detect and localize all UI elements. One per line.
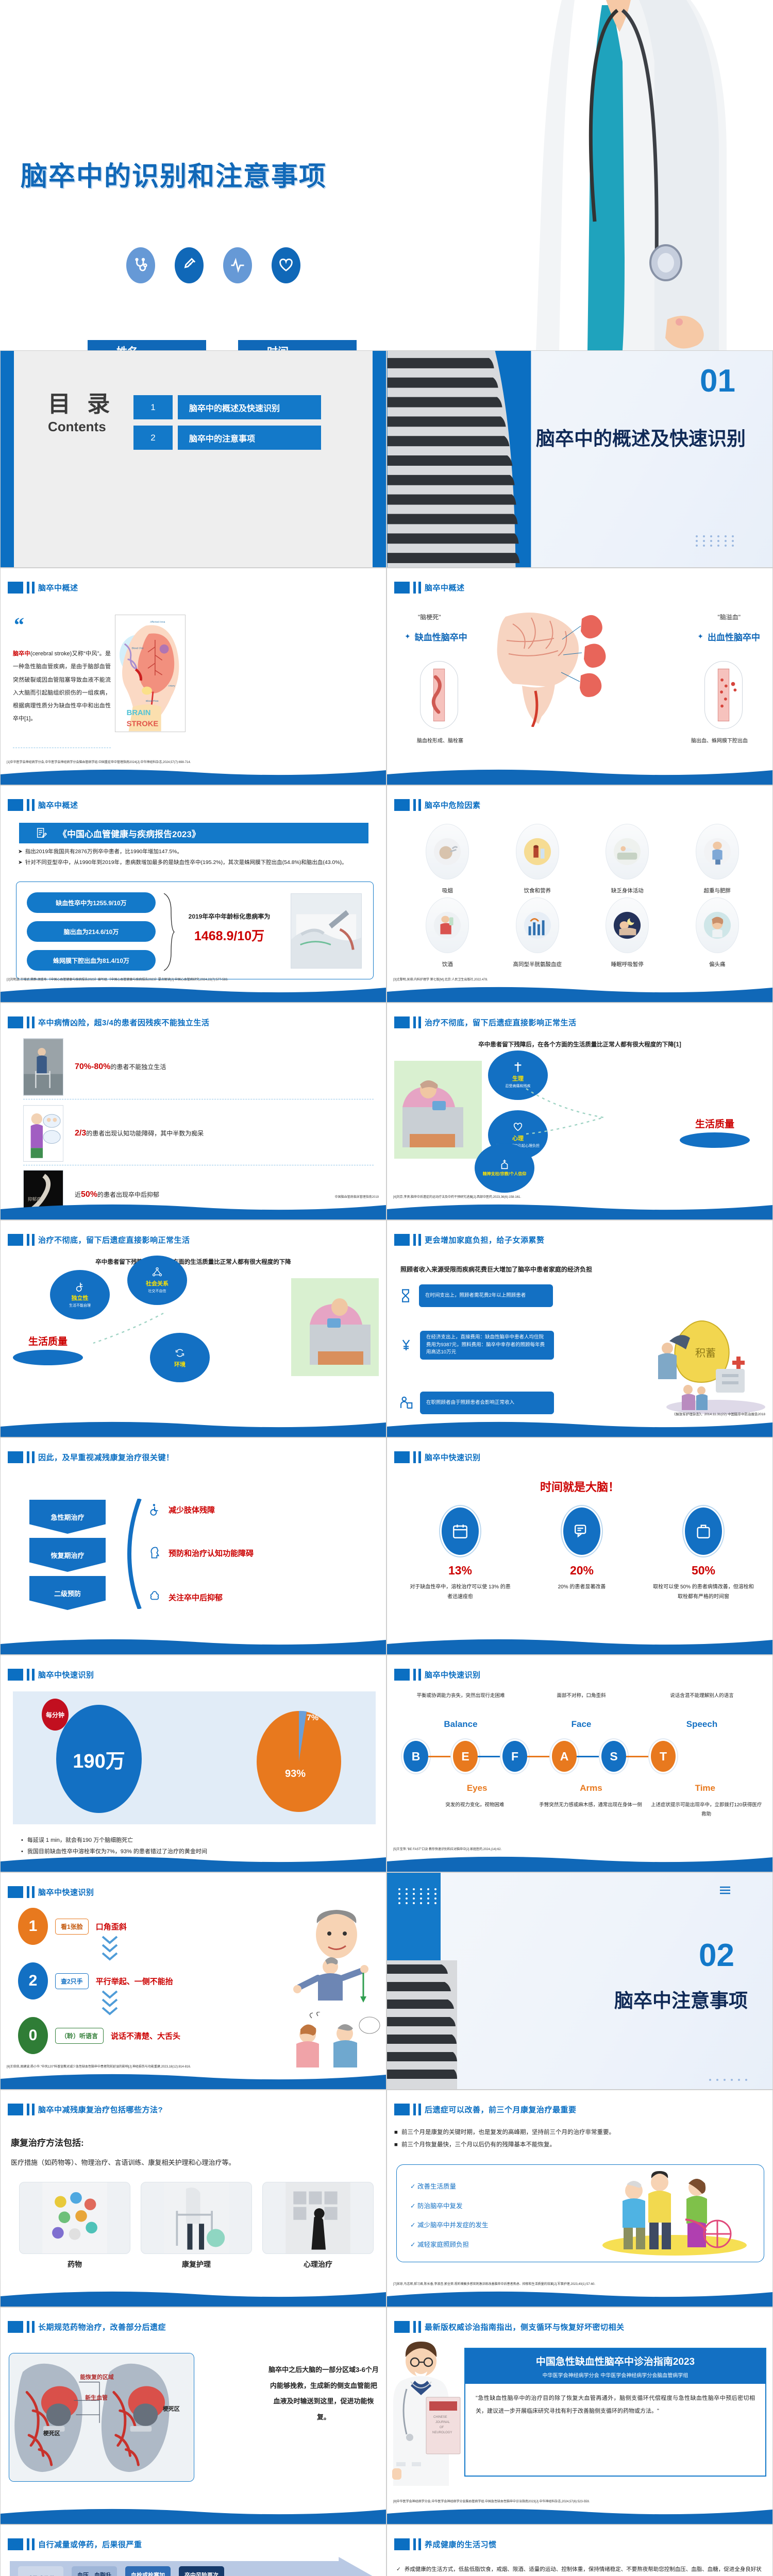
check-icon: ✓ bbox=[396, 2563, 401, 2576]
chain-step: 血栓或栓塞加重 bbox=[125, 2566, 171, 2576]
slide-header: 最新版权威诊治指南指出，侧支循环与恢复好坏密切相关 bbox=[394, 2321, 625, 2333]
step-tag: 查2只手 bbox=[55, 1973, 89, 1989]
longterm-text: 脑卒中之后大脑的一部分区域3-6个月内能够挽救，生成新的侧支血管能把血液及时输送… bbox=[267, 2362, 380, 2425]
header-title: 卒中病情凶险，超3/4的患者因残疾不能独立生活 bbox=[38, 1017, 209, 1028]
contents-en: Contents bbox=[48, 419, 115, 435]
step-tag: （聆）听语言 bbox=[55, 2028, 104, 2044]
burden-item: 在时间支出上，照顾者需花费2年以上照顾患者 bbox=[398, 1284, 553, 1307]
section-title: 脑卒中注意事项 bbox=[614, 1985, 748, 2013]
header-title: 脑卒中概述 bbox=[38, 800, 78, 810]
footer-wave bbox=[1, 985, 386, 1002]
time-stat: 20% 20% 的患者显著改善 bbox=[523, 1506, 641, 1602]
stat-text: 20% 的患者显著改善 bbox=[523, 1583, 641, 1592]
befast-bottom-desc: 上述症状提示可能出现卒中，立即拨打120获得医疗救助 bbox=[648, 1801, 764, 1819]
summary-label: 2019年卒中年龄标化患病率为 bbox=[180, 912, 278, 921]
dot-bullet: • bbox=[21, 1835, 23, 1846]
recycle-icon bbox=[174, 1347, 186, 1359]
risk-label: 吸烟 bbox=[442, 887, 453, 894]
speech-cartoon bbox=[281, 2012, 382, 2070]
right-rail bbox=[373, 351, 386, 567]
svg-text:能恢复的区域: 能恢复的区域 bbox=[80, 2374, 114, 2381]
outcome-item: 关注卒中后抑郁 bbox=[148, 1589, 223, 1605]
left-rail bbox=[1, 351, 14, 567]
header-title: 自行减量或停药，后果很严重 bbox=[38, 2539, 142, 2550]
check-item: ✓ 减轻家庭照顾负担 bbox=[410, 2235, 488, 2255]
bullet-item: •每延误 1 min，就会有190 万个脑细胞死亡 bbox=[21, 1835, 375, 1846]
node-sub: 社交不自信 bbox=[148, 1289, 166, 1294]
check-text: 减少脑卒中并发症的发生 bbox=[417, 2222, 489, 2229]
risk-factor-item: 睡眠呼吸暂停 bbox=[582, 897, 673, 968]
big-number: 190万 bbox=[56, 1705, 142, 1813]
quality-center: 生活质量 bbox=[13, 1334, 83, 1365]
header-title: 脑卒中概述 bbox=[38, 582, 78, 593]
risk-illustration bbox=[606, 897, 649, 953]
footer-wave bbox=[387, 985, 772, 1002]
slide-stop-medication: 自行减量或停药，后果很严重 减量或停药 血压、血脂升高 血栓或栓塞加重 卒中风险… bbox=[0, 2524, 386, 2576]
contents-item[interactable]: 2 脑卒中的注意事项 bbox=[133, 426, 321, 450]
dotted-connectors bbox=[521, 1084, 609, 1141]
footer-wave bbox=[387, 1637, 772, 1654]
hourglass-icon bbox=[398, 1287, 413, 1304]
header-title: 治疗不彻底，留下后遗症直接影响正常生活 bbox=[38, 1234, 190, 1245]
chevrons-down-icon bbox=[97, 1934, 122, 1961]
pulse-icon bbox=[223, 247, 252, 283]
left-quote: "脑梗死" bbox=[418, 613, 441, 621]
stat-chip: 蛛网膜下腔出血为81.4/10万 bbox=[27, 950, 156, 971]
slide-header: 脑卒中概述 bbox=[8, 799, 78, 811]
slide-header: 脑卒中快速识别 bbox=[394, 1451, 481, 1463]
tower-photo bbox=[387, 351, 531, 567]
step-text: 说话不清楚、大舌头 bbox=[111, 2030, 180, 2041]
message-icon bbox=[573, 1522, 591, 1540]
node-title: 生理 bbox=[512, 1074, 524, 1082]
footer-wave bbox=[1, 1854, 386, 1872]
method-caption: 康复护理 bbox=[141, 2259, 252, 2269]
reference-note: [3]尤黎明,吴瑛.内科护理学 第七版[M].北京:人民卫生出版社,2022.4… bbox=[393, 977, 488, 981]
bullet-item: ➤ 针对不同亚型卒中，从1990年到2019年，患病数增加最多的是缺血性卒中(1… bbox=[18, 858, 373, 867]
bullet-text: 前三个月恢复最快，三个月以后仍有的残障基本不能恢复。 bbox=[401, 2139, 556, 2151]
svg-text:Blood Clot: Blood Clot bbox=[132, 647, 144, 650]
chevrons-down-icon bbox=[97, 1988, 122, 2016]
risk-factor-item: 超重与肥胖 bbox=[673, 824, 763, 894]
pie-chart: 7% 93% bbox=[256, 1705, 342, 1813]
dot-grid bbox=[709, 2079, 750, 2081]
reference-note: [1]中华医学会神经病学分会,中华医学会神经病学分会脑血管病学组.中国重症卒中管… bbox=[7, 759, 191, 764]
burden-text: 在经济支出上，直接费用：缺血性脑卒中患者人均住院费用为9387元，照料费用：脑卒… bbox=[420, 1331, 554, 1360]
contents-list: 1 脑卒中的概述及快速识别 2 脑卒中的注意事项 bbox=[133, 395, 321, 456]
contents-number: 1 bbox=[133, 395, 173, 419]
svg-text:7%: 7% bbox=[307, 1714, 318, 1722]
family-support-illustration bbox=[584, 2170, 760, 2258]
quality-lead: 卒中患者留下残障后，在各个方面的生活质量比正常人都有很大程度的下降[1] bbox=[387, 1040, 772, 1048]
chart-panel: 每分钟 190万 7% 93% bbox=[13, 1691, 376, 1824]
header-title: 长期规范药物治疗，改善部分后遗症 bbox=[38, 2321, 166, 2332]
burden-item: 在职照顾者由于照顾患者会影响正常收入 bbox=[398, 1392, 554, 1414]
method-item: 药物 bbox=[19, 2182, 130, 2269]
footer-wave bbox=[1, 1637, 386, 1654]
chain-step: 减量或停药 bbox=[18, 2566, 63, 2576]
slide-header: 脑卒中减残康复治疗包括哪些方法? bbox=[8, 2104, 163, 2115]
risk-illustration bbox=[606, 824, 649, 879]
slide-habit-diet: 养成健康的生活习惯 ✓养成健康的生活方式，低盐低脂饮食，戒烟、限酒、适量的运动、… bbox=[386, 2524, 773, 2576]
wheelchair-icon bbox=[74, 1281, 86, 1292]
left-caption: 脑血栓形成、脑栓塞 bbox=[407, 736, 474, 744]
report-banner: 《中国心血管健康与疾病报告2023》 bbox=[58, 827, 200, 840]
header-title: 脑卒中快速识别 bbox=[425, 1669, 481, 1680]
stat-value: 20% bbox=[523, 1564, 641, 1578]
slide-first-three-months: 后遗症可以改善，前三个月康复治疗最重要 ■前三个月是康复的关键时期，也是复发的高… bbox=[386, 2090, 773, 2307]
svg-text:JOURNAL: JOURNAL bbox=[435, 2421, 450, 2424]
cover-title: 脑卒中的识别和注意事项 bbox=[21, 155, 327, 193]
calendar-icon bbox=[451, 1522, 469, 1540]
footer-wave bbox=[1, 1419, 386, 1437]
slide-header: 更会增加家庭负担，给子女添累赘 bbox=[394, 1234, 545, 1246]
slide-quality-right: 治疗不彻底，留下后遗症直接影响正常生活 卒中患者留下残障后，在各个方面的生活质量… bbox=[0, 1220, 386, 1437]
reference-note: 《解放军护理杂志》，2014.11.31(22) 中国脑卒中防治报告2018 bbox=[673, 1411, 765, 1416]
slide-befast: 脑卒中快速识别 平衡或协调能力丧失，突然出现行走困难 面部不对称，口角歪斜 说话… bbox=[386, 1655, 773, 1872]
diamond-icon: ✦ bbox=[405, 632, 411, 641]
slide-contents: 目 录 Contents 1 脑卒中的概述及快速识别 2 脑卒中的注意事项 bbox=[0, 350, 386, 568]
chain-step: 卒中风险再次升高 bbox=[179, 2566, 224, 2576]
vessel-frame-right bbox=[704, 661, 743, 729]
slide-rehab-methods: 脑卒中减残康复治疗包括哪些方法? 康复治疗方法包括: 医疗措施（如药物等）、物理… bbox=[0, 2090, 386, 2307]
header-title: 更会增加家庭负担，给子女添累赘 bbox=[425, 1234, 545, 1245]
contents-heading: 目 录 Contents bbox=[48, 393, 115, 435]
brain-collateral-illustration: 能恢复的区域 新生血管 梗死区 梗死区 bbox=[9, 2353, 194, 2481]
outcome-item: 预防和治疗认知功能障碍 bbox=[148, 1545, 254, 1561]
slide-header: 自行减量或停药，后果很严重 bbox=[8, 2538, 142, 2550]
psych-therapy-photo bbox=[262, 2182, 374, 2254]
slide-header: 因此，及早重视减残康复治疗很关键！ bbox=[8, 1451, 174, 1463]
befast-bottom-label: Eyes bbox=[420, 1783, 534, 1793]
stat-value: 13% bbox=[401, 1564, 519, 1578]
rehab-care-photo bbox=[141, 2182, 252, 2254]
slide-header: 卒中病情凶险，超3/4的患者因残疾不能独立生活 bbox=[8, 1016, 209, 1028]
risk-factor-item: 饮酒 bbox=[402, 897, 493, 968]
syringe-icon bbox=[175, 247, 204, 283]
methods-lead: 康复治疗方法包括: bbox=[11, 2136, 84, 2148]
method-item: 康复护理 bbox=[141, 2182, 252, 2269]
diamond-icon: ✦ bbox=[697, 632, 703, 641]
stat-chip: 脑出血为214.6/10万 bbox=[27, 921, 156, 942]
quality-lead: 卒中患者留下残障后，在各个方面的生活质量比正常人都有很大程度的下降 bbox=[1, 1258, 386, 1266]
reference-note: [5]王宝萍."BE FAST"口诀 教你快速识别和应对脑卒中[J].家庭医药,… bbox=[393, 1846, 501, 1851]
brace-icon bbox=[162, 893, 175, 971]
center-label: 生活质量 bbox=[13, 1334, 83, 1348]
risk-factor-item: 吸烟 bbox=[402, 824, 493, 894]
risk-illustration bbox=[696, 824, 739, 879]
footer-wave bbox=[1, 2072, 386, 2089]
befast-bottom-desc: 手臂突然无力感或麻木感，通常出现在身体一侧 bbox=[533, 1801, 649, 1819]
slide-header: 脑卒中快速识别 bbox=[394, 1669, 481, 1681]
svg-text:NEUROLOGY: NEUROLOGY bbox=[432, 2431, 452, 2434]
worker-icon bbox=[398, 1395, 414, 1411]
right-type: ✦ 出血性脑卒中 bbox=[697, 630, 760, 643]
contents-number: 2 bbox=[133, 426, 173, 450]
befast-top-desc: 说话含混不能理解别人的语言 bbox=[642, 1691, 762, 1700]
contents-label: 脑卒中的注意事项 bbox=[178, 426, 321, 450]
step-row: 2 查2只手 平行举起、一侧不能抬 bbox=[18, 1962, 173, 1999]
doctor-writing-photo bbox=[291, 893, 362, 969]
right-quote: "脑溢血" bbox=[717, 613, 741, 621]
severity-text: 的患者不能独立生活 bbox=[110, 1063, 166, 1071]
arrow-icon: ➤ bbox=[18, 858, 23, 867]
node-title: 独立性 bbox=[72, 1294, 89, 1302]
slide-severity: 卒中病情凶险，超3/4的患者因残疾不能独立生活 70%-80%的患者不能独立生活… bbox=[0, 1003, 386, 1220]
slide-overview-2: 脑卒中概述 "脑梗死" ✦ 缺血性脑卒中 "脑溢血" ✦ 出血性脑卒中 bbox=[386, 568, 773, 785]
slide-rehab-key: 因此，及早重视减残康复治疗很关键！ 急性期治疗 恢复期治疗 二级预防 减少肢体残… bbox=[0, 1437, 386, 1655]
check-text: 改善生活质量 bbox=[417, 2183, 456, 2190]
severity-prefix: 近 bbox=[75, 1191, 81, 1198]
right-caption: 脑出血、蛛网膜下腔出血 bbox=[681, 736, 758, 744]
stat-value: 50% bbox=[645, 1564, 762, 1578]
svg-text:梗死区: 梗死区 bbox=[43, 2430, 60, 2437]
time-title: 时间就是大脑！ bbox=[387, 1478, 772, 1495]
reference-note: [4]刘京,李贤.脑卒中后遗症的运动疗法及中药干预研究进展[J].西部中医药,2… bbox=[393, 1194, 521, 1199]
befast-top-label: Balance bbox=[400, 1719, 521, 1730]
bullet-text: 每延误 1 min，就会有190 万个脑细胞死亡 bbox=[27, 1835, 133, 1846]
risk-illustration bbox=[426, 897, 469, 953]
step-number: 0 bbox=[18, 2017, 48, 2054]
befast-letter: F bbox=[502, 1741, 527, 1772]
head-icon bbox=[148, 1545, 161, 1561]
slide-quality-left: 治疗不彻底，留下后遗症直接影响正常生活 卒中患者留下残障后，在各个方面的生活质量… bbox=[386, 1003, 773, 1220]
header-title: 脑卒中快速识别 bbox=[425, 1452, 481, 1463]
risk-label: 超重与肥胖 bbox=[704, 887, 731, 894]
risk-label: 高同型半胱氨酸血症 bbox=[513, 960, 562, 968]
befast-letter: B bbox=[404, 1741, 428, 1772]
vessel-frame-left bbox=[420, 661, 458, 729]
bullet-text: 前三个月是康复的关键时期，也是复发的高峰期，坚持前三个月的治疗非常重要。 bbox=[401, 2126, 615, 2139]
slide-stroke-120: 脑卒中快速识别 1 看1张脸 口角歪斜 2 查2只手 平行举起、一侧不能抬 0 … bbox=[0, 1872, 386, 2090]
bullet-item: ■前三个月恢复最快，三个月以后仍有的残障基本不能恢复。 bbox=[394, 2139, 765, 2151]
slide-header: 后遗症可以改善，前三个月康复治疗最重要 bbox=[394, 2104, 577, 2115]
header-title: 脑卒中危险因素 bbox=[425, 800, 481, 810]
quality-node: 精神支柱/宗教/个人信仰 bbox=[475, 1143, 534, 1193]
reference-note: [2]刘明波,王增武,樊静,胡盛寿.《中国心血管健康与疾病报告2023》编写组.… bbox=[7, 977, 228, 981]
burden-text: 在职照顾者由于照顾患者会影响正常收入 bbox=[420, 1392, 554, 1414]
overview-lead: 脑卒中 bbox=[13, 651, 30, 657]
section-title: 脑卒中的概述及快速识别 bbox=[536, 423, 746, 451]
outcome-text: 关注卒中后抑郁 bbox=[169, 1592, 223, 1603]
time-stat: 50% 取栓可以使 50% 的患者病情改善，但溶栓和取栓都有严格的时间窗 bbox=[645, 1506, 762, 1602]
overview-paragraph: (cerebral stroke)又称“中风”。是一种急性脑血管疾病，是由于脑部… bbox=[13, 651, 111, 722]
right-title: 出血性脑卒中 bbox=[708, 630, 760, 643]
left-title: 缺血性脑卒中 bbox=[415, 630, 467, 643]
contents-item[interactable]: 1 脑卒中的概述及快速识别 bbox=[133, 395, 321, 419]
befast-letter: S bbox=[601, 1741, 626, 1772]
svg-text:BRAIN: BRAIN bbox=[127, 709, 151, 717]
slide-section-02: 02 脑卒中注意事项 bbox=[386, 1872, 773, 2090]
severity-stat: 70%-80% bbox=[75, 1062, 110, 1071]
footer-wave bbox=[387, 767, 772, 785]
wheelchair-icon bbox=[148, 1502, 161, 1517]
severity-text: 的患者出现卒中后抑郁 bbox=[97, 1191, 159, 1198]
pills-photo bbox=[19, 2182, 130, 2254]
header-title: 脑卒中快速识别 bbox=[38, 1669, 94, 1680]
header-title: 后遗症可以改善，前三个月康复治疗最重要 bbox=[425, 2104, 577, 2115]
tower-photo bbox=[387, 1960, 457, 2089]
outcome-text: 减少肢体残障 bbox=[169, 1504, 215, 1515]
svg-text:梗死区: 梗死区 bbox=[163, 2405, 180, 2412]
header-title: 脑卒中概述 bbox=[425, 582, 465, 593]
slide-long-term-medication: 长期规范药物治疗，改善部分后遗症 bbox=[0, 2307, 386, 2524]
church-icon bbox=[499, 1159, 510, 1170]
stage-label: 恢复期治疗 bbox=[51, 1550, 84, 1560]
slide-header: 脑卒中概述 bbox=[394, 582, 465, 594]
slide-time-is-brain: 脑卒中快速识别 时间就是大脑！ 13% 对于缺血性卒中，溶栓治疗可以使 13% … bbox=[386, 1437, 773, 1655]
befast-top-desc: 平衡或协调能力丧失，突然出现行走困难 bbox=[400, 1691, 521, 1700]
document-icon bbox=[36, 826, 47, 840]
brain-vessel-illustration bbox=[475, 603, 629, 727]
left-type: ✦ 缺血性脑卒中 bbox=[405, 630, 467, 643]
dotted-connectors bbox=[91, 1310, 169, 1357]
svg-text:抑郁症: 抑郁症 bbox=[28, 1196, 41, 1202]
footer-wave bbox=[1, 2289, 386, 2307]
slide-deck: 脑卒中的识别和注意事项 姓名 时间 目 录 Co bbox=[0, 0, 773, 2576]
risk-label: 饮酒 bbox=[442, 960, 453, 968]
burden-lead: 照顾者收入来源受限而疾病花费巨大增加了脑卒中患者家庭的经济负担 bbox=[400, 1265, 592, 1274]
risk-illustration bbox=[426, 824, 469, 879]
risk-label: 偏头痛 bbox=[709, 960, 726, 968]
svg-text:CHINESE: CHINESE bbox=[433, 2416, 447, 2419]
slide-190-million: 脑卒中快速识别 每分钟 190万 7% 93% •每延误 1 min，就会有19… bbox=[0, 1655, 386, 1872]
befast-top-label: Face bbox=[521, 1719, 642, 1730]
reference-note: [6]王依依,周建波,杨小华."中风120"科普宣教对减少急性缺血性脑卒中患者院… bbox=[7, 2064, 191, 2069]
menu-icon[interactable] bbox=[718, 1884, 732, 1896]
check-item: ✓ 防治脑卒中复发 bbox=[410, 2197, 488, 2216]
check-icon: ✓ bbox=[410, 2183, 415, 2190]
check-item: ✓养成健康的生活方式，低盐低脂饮食，戒烟、限酒、适量的运动、控制体重，保持情绪稳… bbox=[396, 2563, 765, 2576]
risk-label: 缺乏身体活动 bbox=[611, 887, 644, 894]
divider bbox=[13, 748, 111, 748]
risk-illustration bbox=[516, 824, 559, 879]
risk-factor-item: 高同型半胱氨酸血症 bbox=[493, 897, 583, 968]
step-number: 2 bbox=[18, 1962, 48, 1999]
name-field[interactable]: 姓名 bbox=[88, 340, 206, 350]
slide-risk-factors: 脑卒中危险因素 吸烟 饮食和营养 缺乏身体活动 超重与肥胖 bbox=[386, 785, 773, 1003]
slide-cover: 脑卒中的识别和注意事项 姓名 时间 bbox=[0, 0, 773, 350]
stat-text: 对于缺血性卒中，溶栓治疗可以使 13% 的患者迅速痊愈 bbox=[401, 1583, 519, 1602]
svg-text:Affected Area: Affected Area bbox=[150, 620, 165, 623]
risk-factor-item: 缺乏身体活动 bbox=[582, 824, 673, 894]
footer-wave bbox=[1, 767, 386, 785]
methods-body: 医疗措施（如药物等）、物理治疗、言语训练、康复相关护理和心理治疗等。 bbox=[11, 2157, 376, 2167]
check-text: 减轻家庭照顾负担 bbox=[417, 2241, 469, 2248]
square-bullet: ■ bbox=[394, 2126, 398, 2139]
slide-header: 治疗不彻底，留下后遗症直接影响正常生活 bbox=[8, 1234, 190, 1246]
svg-text:Blood Flow: Blood Flow bbox=[146, 700, 159, 703]
check-item: ✓ 减少脑卒中并发症的发生 bbox=[410, 2216, 488, 2235]
step-text: 口角歪斜 bbox=[96, 1921, 127, 1932]
footer-wave bbox=[1, 2506, 386, 2524]
befast-letter: A bbox=[552, 1741, 577, 1772]
stage-chevron: 急性期治疗 bbox=[29, 1500, 106, 1534]
square-bullet: ■ bbox=[394, 2139, 398, 2151]
svg-text:Artery: Artery bbox=[168, 685, 175, 688]
check-icon: ✓ bbox=[410, 2241, 415, 2248]
slide-header: 长期规范药物治疗，改善部分后遗症 bbox=[8, 2321, 166, 2333]
time-stat: 13% 对于缺血性卒中，溶栓治疗可以使 13% 的患者迅速痊愈 bbox=[401, 1506, 519, 1602]
footer-wave bbox=[1, 1202, 386, 1219]
money-icon bbox=[398, 1336, 414, 1354]
header-title: 脑卒中减残康复治疗包括哪些方法? bbox=[38, 2104, 163, 2115]
bracket-icon bbox=[122, 1499, 142, 1609]
risk-label: 睡眠呼吸暂停 bbox=[611, 960, 644, 968]
footer-wave bbox=[387, 1202, 772, 1219]
befast-top-desc: 面部不对称，口角歪斜 bbox=[521, 1691, 642, 1700]
befast-bottom-label: Time bbox=[648, 1783, 762, 1793]
chain-step: 血压、血脂升高 bbox=[72, 2566, 117, 2576]
footer-wave bbox=[387, 1854, 772, 1872]
section-number: 02 bbox=[699, 1940, 734, 1972]
slide-overview-1: 脑卒中概述 “ 脑卒中(cerebral stroke)又称“中风”。是一种急性… bbox=[0, 568, 386, 785]
quote-mark: “ bbox=[14, 619, 24, 631]
person-icon bbox=[512, 1061, 524, 1073]
patient-armchair-illustration bbox=[291, 1278, 379, 1376]
elderly-walker-photo bbox=[23, 1038, 63, 1096]
step-text: 平行举起、一侧不能抬 bbox=[96, 1976, 173, 1987]
slide-section-01: 01 脑卒中的概述及快速识别 bbox=[386, 350, 773, 568]
risk-factor-item: 饮食和营养 bbox=[493, 824, 583, 894]
slide-header: 脑卒中危险因素 bbox=[394, 799, 481, 811]
footer-wave bbox=[387, 1419, 772, 1437]
risk-factor-item: 偏头痛 bbox=[673, 897, 763, 968]
step-tag: 看1张脸 bbox=[55, 1919, 89, 1935]
step-row: 0 （聆）听语言 说话不清楚、大舌头 bbox=[18, 2017, 180, 2054]
cognitive-cartoon bbox=[23, 1105, 63, 1162]
befast-bottom-label: Arms bbox=[534, 1783, 648, 1793]
stat-text: 取栓可以使 50% 的患者病情改善，但溶栓和取栓都有严格的时间窗 bbox=[645, 1583, 762, 1602]
cover-icon-row bbox=[126, 247, 300, 283]
svg-text:OF: OF bbox=[440, 2426, 444, 2429]
doctor-with-journal-illustration: CHINESEJOURNALOFNEUROLOGY bbox=[389, 2340, 465, 2494]
slide-family-burden: 更会增加家庭负担，给子女添累赘 照顾者收入来源受限而疾病花费巨大增加了脑卒中患者… bbox=[386, 1220, 773, 1437]
befast-bottom-desc: 突发的视力变化，视物困难 bbox=[417, 1801, 533, 1819]
bag-icon bbox=[695, 1522, 712, 1540]
bullet-text: 针对不同亚型卒中，从1990年到2019年，患病数增加最多的是缺血性卒中(195… bbox=[25, 858, 347, 867]
footer-wave bbox=[387, 2506, 772, 2524]
heart-icon bbox=[272, 247, 300, 283]
stethoscope-icon bbox=[126, 247, 155, 283]
stage-chevron: 恢复期治疗 bbox=[29, 1538, 106, 1572]
header-title: 最新版权威诊治指南指出，侧支循环与恢复好坏密切相关 bbox=[425, 2321, 625, 2332]
section-number: 01 bbox=[700, 365, 735, 397]
footer-wave bbox=[387, 2289, 772, 2307]
check-icon: ✓ bbox=[410, 2222, 415, 2229]
method-caption: 心理治疗 bbox=[262, 2259, 374, 2269]
method-caption: 药物 bbox=[19, 2259, 130, 2269]
bullet-item: ➤ 指出2019年我国共有2876万例卒中患者，比1990年增加147.5%。 bbox=[18, 848, 373, 856]
summary-value: 1468.9/10万 bbox=[180, 926, 278, 944]
stage-label: 二级预防 bbox=[54, 1588, 81, 1598]
arms-raise-cartoon bbox=[286, 1955, 379, 2012]
time-field[interactable]: 时间 bbox=[238, 340, 357, 350]
node-title: 环境 bbox=[174, 1360, 186, 1368]
slide-header: 脑卒中快速识别 bbox=[8, 1669, 94, 1681]
severity-stat: 2/3 bbox=[75, 1129, 86, 1138]
center-label: 生活质量 bbox=[680, 1116, 750, 1130]
svg-text:93%: 93% bbox=[285, 1768, 306, 1780]
guideline-banner-sub: 中华医学会神经病学分会 中华医学会神经病学分会脑血管病学组 bbox=[465, 2371, 765, 2379]
befast-letter: E bbox=[453, 1741, 478, 1772]
slide-header: 脑卒中快速识别 bbox=[8, 1886, 94, 1898]
bullet-item: ■前三个月是康复的关键时期，也是复发的高峰期，坚持前三个月的治疗非常重要。 bbox=[394, 2126, 765, 2139]
header-title: 脑卒中快速识别 bbox=[38, 1887, 94, 1897]
risk-illustration bbox=[516, 897, 559, 953]
quality-node: 社会关系 社交不自信 bbox=[127, 1256, 187, 1305]
outcome-text: 预防和治疗认知功能障碍 bbox=[169, 1548, 254, 1558]
